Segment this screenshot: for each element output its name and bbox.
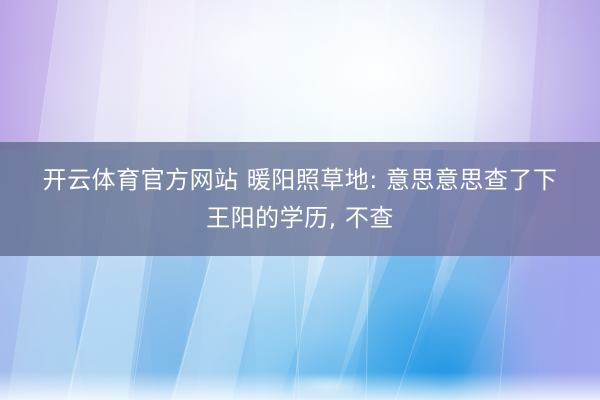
caption-line-2: 王阳的学历, 不查 [206,199,394,237]
caption-line-1: 开云体育官方网站 暖阳照草地: 意思意思查了下 [43,161,558,199]
background-watermark-glow [292,376,362,396]
caption-band: 开云体育官方网站 暖阳照草地: 意思意思查了下 王阳的学历, 不查 [0,142,600,256]
image-canvas: 开云体育官方网站 暖阳照草地: 意思意思查了下 王阳的学历, 不查 [0,0,600,400]
